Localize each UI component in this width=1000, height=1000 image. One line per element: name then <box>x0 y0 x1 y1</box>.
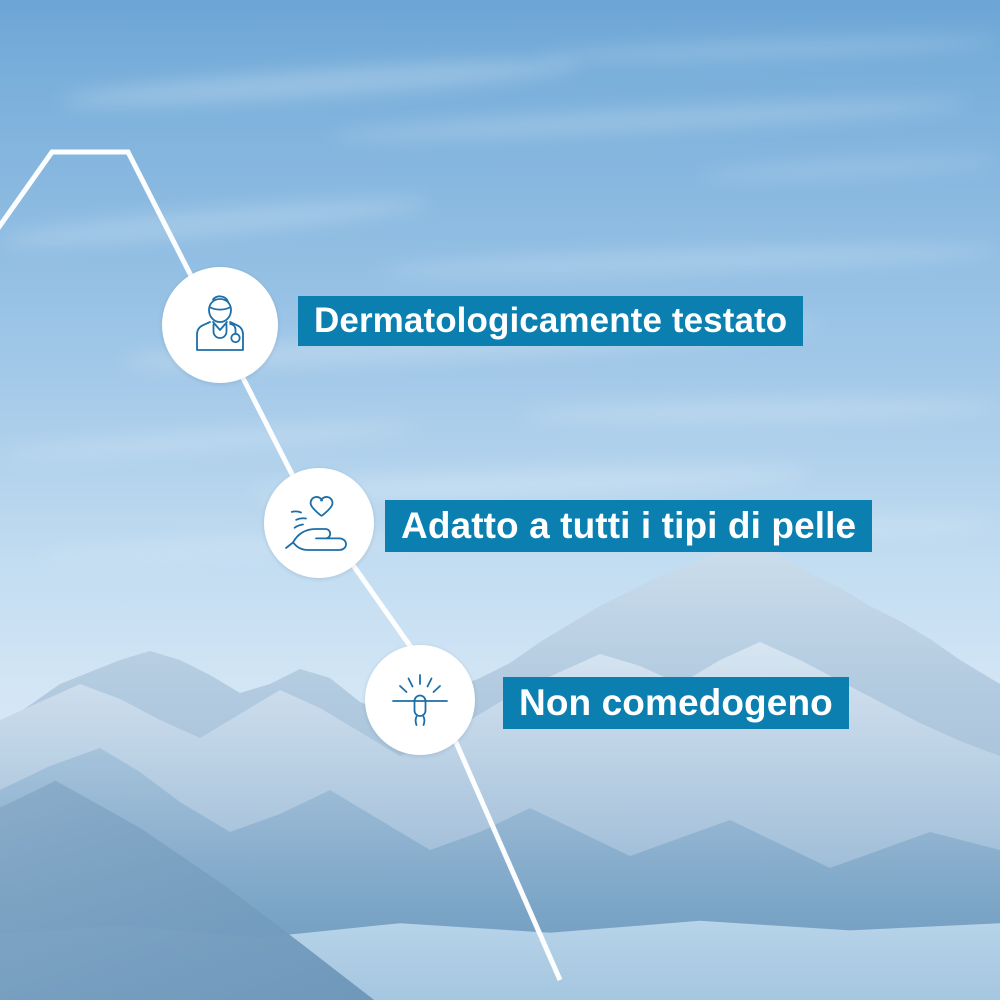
claim-badge-all-skin-types <box>264 468 374 578</box>
claim-badge-non-comedogenic <box>365 645 475 755</box>
hand-with-heart-icon <box>281 488 357 558</box>
claim-label-dermatologically-tested: Dermatologicamente testato <box>298 296 803 346</box>
claim-label-all-skin-types: Adatto a tutti i tipi di pelle <box>385 500 872 552</box>
claim-label-non-comedogenic: Non comedogeno <box>503 677 849 729</box>
promo-banner: Dermatologicamente testato Adatto a tutt… <box>0 0 1000 1000</box>
pore-skin-icon <box>383 663 457 737</box>
claim-badge-dermatologically-tested <box>162 267 278 383</box>
dermatologist-doctor-icon <box>183 288 257 362</box>
